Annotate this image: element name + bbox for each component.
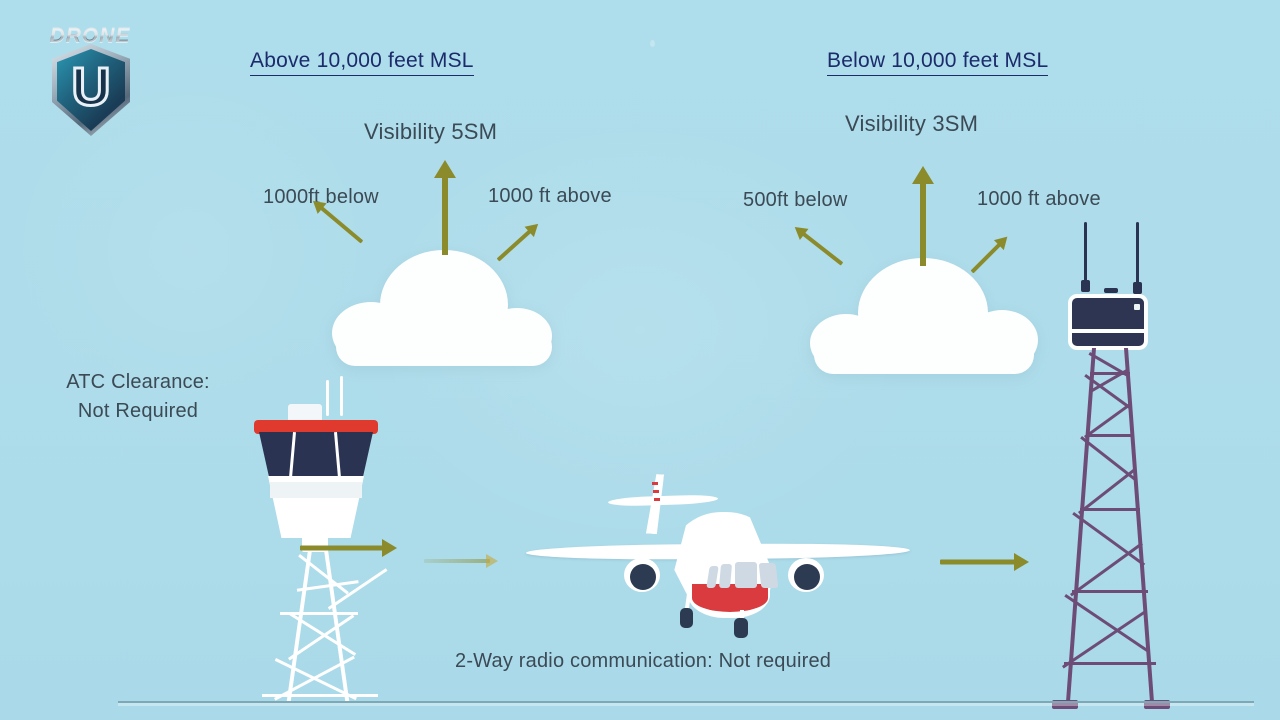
atc-clearance-line1: ATC Clearance: (38, 368, 238, 397)
radio-tower-icon (1040, 222, 1200, 708)
atc-clearance-line2: Not Required (38, 397, 238, 426)
arrow-right-icon-radio (940, 554, 1032, 570)
arrow-up-icon-right (912, 166, 934, 266)
decorative-speck (650, 40, 655, 47)
control-tower-icon (246, 372, 396, 704)
slide-canvas: DRONE U Above 10,000 feet MSL Below 10,0… (0, 0, 1280, 720)
left-visibility-label: Visibility 5SM (364, 119, 497, 145)
heading-below-10000: Below 10,000 feet MSL (827, 49, 1048, 76)
heading-above-10000: Above 10,000 feet MSL (250, 49, 474, 76)
arrow-up-icon-left (434, 160, 456, 255)
ground-line-highlight (118, 703, 1254, 706)
arrow-right-icon-tower (300, 540, 400, 556)
atc-clearance-block: ATC Clearance: Not Required (38, 368, 238, 426)
left-above-label: 1000 ft above (488, 185, 612, 208)
right-below-label: 500ft below (743, 189, 848, 212)
cloud-icon-right (810, 258, 1038, 376)
right-visibility-label: Visibility 3SM (845, 111, 978, 137)
drone-u-logo: DRONE U (26, 22, 142, 142)
shield-letter: U (57, 58, 125, 118)
airplane-icon (520, 468, 920, 640)
arrow-right-icon-mid (424, 554, 502, 568)
radio-communication-label: 2-Way radio communication: Not required (455, 650, 831, 673)
right-above-label: 1000 ft above (977, 188, 1101, 211)
cloud-icon-left (332, 250, 556, 370)
